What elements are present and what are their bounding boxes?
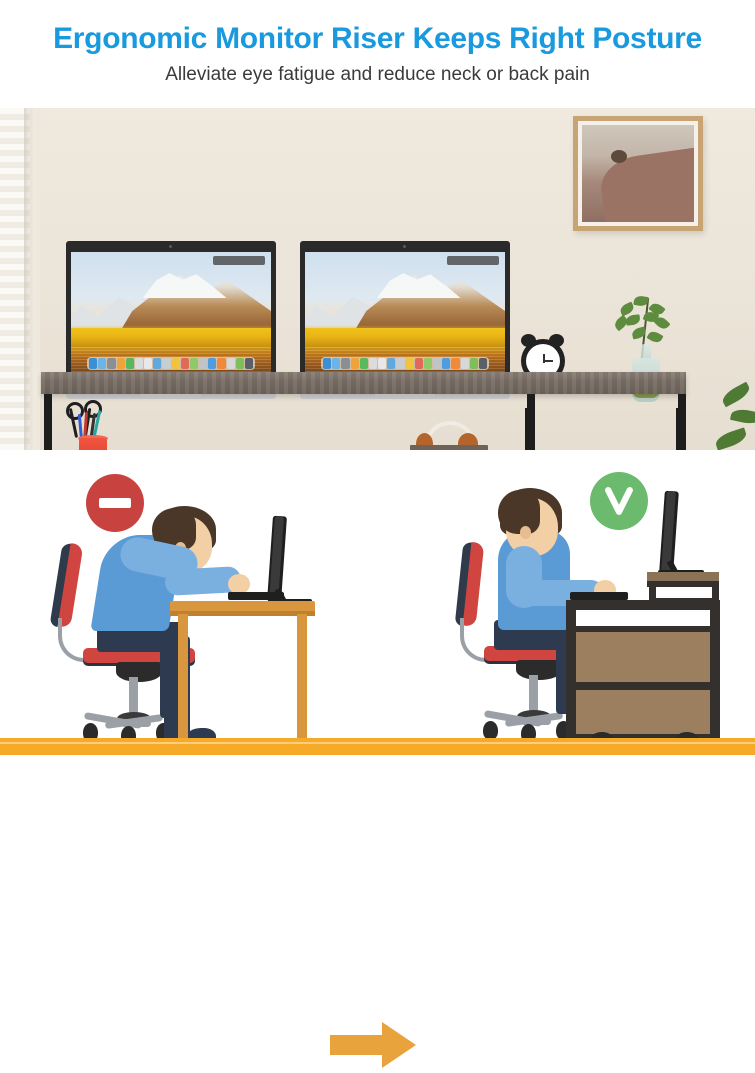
page-title: Ergonomic Monitor Riser Keeps Right Post… (0, 22, 755, 56)
riser-leg-left (44, 394, 52, 450)
wallpaper-golden-trees (305, 328, 505, 348)
foliage-right (691, 384, 755, 450)
chair-mechanism (116, 662, 162, 682)
person-hand (228, 574, 250, 594)
foliage-leaf (730, 407, 755, 426)
right-monitor-wallpaper (305, 252, 505, 374)
scissors-ring-a (66, 402, 84, 420)
right-monitor-screen (305, 252, 505, 374)
illus-keyboard (228, 592, 284, 600)
curtain (0, 108, 30, 450)
shelf-post-left (525, 408, 533, 450)
wallpaper-snow-cap (131, 272, 227, 299)
right-monitor-bezel (300, 241, 510, 381)
header-banner: Ergonomic Monitor Riser Keeps Right Post… (0, 0, 755, 108)
floor-highlight (0, 742, 755, 744)
foliage-leaf (720, 382, 753, 408)
left-monitor-bezel (66, 241, 276, 381)
framed-artwork (573, 116, 703, 231)
illus-cabinet-slot (576, 610, 710, 626)
person-ear (520, 526, 531, 539)
page-subtitle: Alleviate eye fatigue and reduce neck or… (0, 64, 755, 86)
left-monitor-camera-icon (169, 245, 172, 248)
right-monitor-camera-icon (403, 245, 406, 248)
shelf-post-right (676, 408, 684, 450)
wallpaper-dock (321, 357, 489, 370)
wallpaper-golden-trees (71, 328, 271, 348)
transition-arrow (330, 1022, 416, 1068)
clock-minute-hand (543, 360, 553, 362)
product-feature-image: Ergonomic Monitor Riser Keeps Right Post… (0, 0, 755, 755)
product-photo: THRIFT (0, 108, 755, 450)
illus-keyboard (570, 592, 628, 600)
monitor-riser-shelf (41, 372, 686, 394)
artwork-image (582, 125, 694, 222)
illus-desk-leg-left (178, 614, 188, 738)
wallpaper-menubar (213, 256, 265, 266)
no-entry-icon (86, 474, 144, 532)
illus-desk-leg-right (297, 614, 307, 738)
floor-bar (0, 738, 755, 755)
wallpaper-snow-cap (365, 272, 461, 299)
person-hair-fringe (498, 490, 540, 534)
check-mark-icon (590, 472, 648, 530)
wallpaper-menubar (447, 256, 499, 266)
clock-hour-hand (543, 354, 545, 363)
pen-cup (79, 438, 107, 450)
wallpaper-dock (87, 357, 255, 370)
posture-comparison-illustration (0, 450, 755, 755)
illus-riser-edge (647, 581, 719, 587)
illus-drawer-top (576, 632, 710, 682)
illus-desk-edge (170, 611, 315, 616)
left-monitor-screen (71, 252, 271, 374)
left-monitor-wallpaper (71, 252, 271, 374)
foliage-leaf (714, 427, 749, 450)
illus-drawer-bottom (576, 690, 710, 734)
